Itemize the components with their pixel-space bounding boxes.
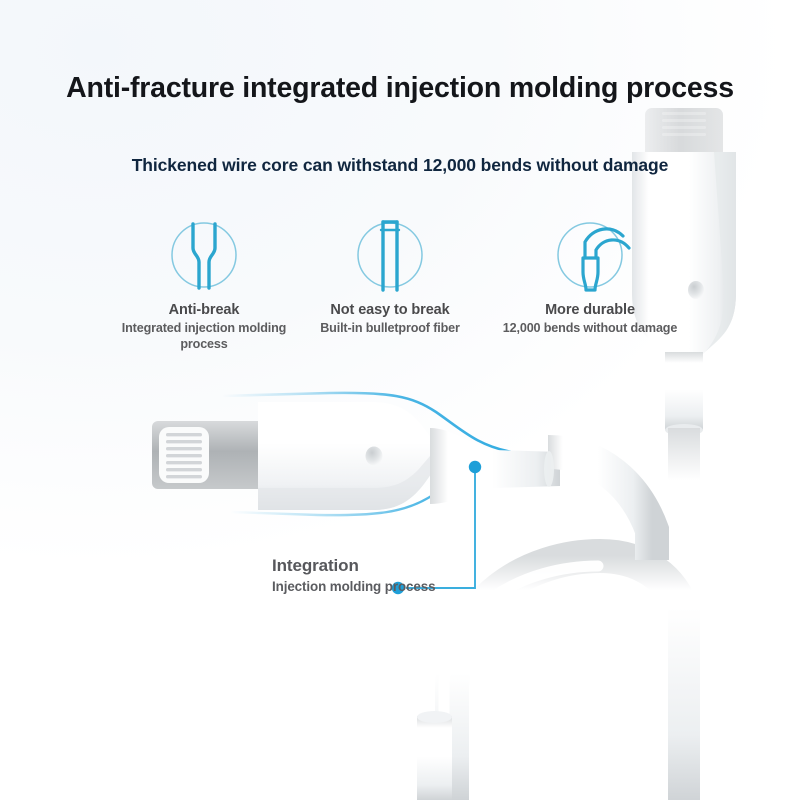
lightning-boot-seam [544, 451, 554, 487]
feature-list: Anti-break Integrated injection molding … [104, 214, 704, 353]
feature-title: More durable [476, 302, 704, 318]
cable-loop-path [452, 556, 680, 800]
lightning-boot [430, 428, 560, 504]
callout-integration: Integration Injection molding process [272, 556, 452, 595]
cable-straight-icon [304, 214, 476, 296]
right-connector-contacts [662, 112, 706, 136]
product-artwork [0, 0, 800, 800]
right-connector-boot [665, 352, 703, 430]
cable-bend-icon [476, 214, 704, 296]
lightning-contact-pad [159, 427, 209, 483]
lightning-housing-shade [258, 456, 434, 510]
lightning-connector-assembly [152, 393, 652, 560]
feature-desc: Integrated injection molding process [104, 321, 304, 353]
cable-fork-icon [104, 214, 304, 296]
right-cable-vertical [668, 428, 700, 800]
left-cable-run [548, 452, 652, 560]
right-connector-shade [706, 152, 736, 351]
cable-loop [417, 556, 680, 800]
feature-title: Anti-break [104, 302, 304, 318]
feature-desc: 12,000 bends without damage [476, 321, 704, 337]
right-connector-assembly [632, 108, 736, 800]
cable-loop-boot-top [417, 711, 452, 723]
page-subtitle: Thickened wire core can withstand 12,000… [0, 155, 800, 176]
lightning-housing-dimple [366, 447, 383, 466]
feature-item-anti-break: Anti-break Integrated injection molding … [104, 214, 304, 353]
lightning-contact-pins [166, 433, 202, 478]
lightning-housing [258, 402, 434, 510]
page-title: Anti-fracture integrated injection moldi… [0, 72, 800, 105]
connector-glow-bottom [230, 468, 500, 515]
feature-item-more-durable: More durable 12,000 bends without damage [476, 214, 704, 353]
connector-glow-top [222, 393, 512, 452]
lightning-metal-tip [152, 421, 264, 489]
callout-title: Integration [272, 556, 452, 576]
product-feature-graphic: Anti-fracture integrated injection moldi… [0, 0, 800, 800]
feature-title: Not easy to break [304, 302, 476, 318]
feature-desc: Built-in bulletproof fiber [304, 321, 476, 337]
feature-item-not-easy-to-break: Not easy to break Built-in bulletproof f… [304, 214, 476, 353]
cable-loop-highlight [444, 566, 598, 800]
right-connector-boot-end [665, 424, 703, 436]
cable-loop-boot [417, 716, 452, 800]
callout-desc: Injection molding process [272, 579, 452, 595]
callout-leader-line [0, 0, 800, 800]
callout-anchor-dot [469, 461, 481, 473]
